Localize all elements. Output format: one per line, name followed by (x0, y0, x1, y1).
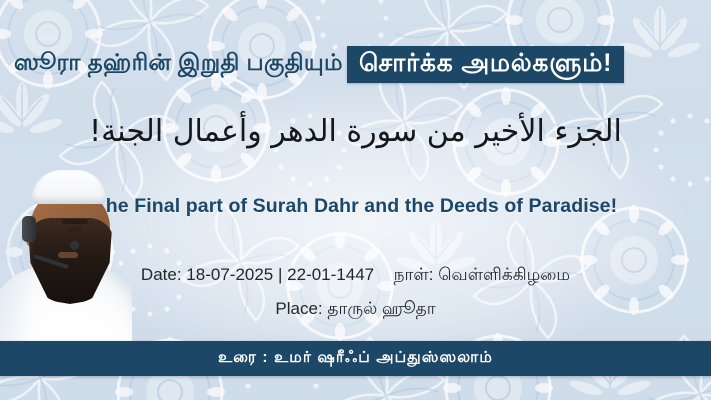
english-title: The Final part of Surah Dahr and the Dee… (0, 195, 711, 218)
date-line: Date: 18-07-2025 | 22-01-1447 நாள்: வெள்… (0, 258, 711, 292)
day-value: வெள்ளிக்கிழமை (438, 265, 570, 284)
place-value: தாருல் ஹூதா (327, 299, 435, 318)
event-details: Date: 18-07-2025 | 22-01-1447 நாள்: வெள்… (0, 258, 711, 326)
photo-eye (68, 227, 82, 232)
date-label: Date: (141, 265, 182, 284)
day-label: நாள்: (394, 265, 434, 284)
speaker-banner: உரை : உமர் ஷரீஃப் அப்துஸ்ஸலாம் (0, 341, 711, 376)
event-poster: ஸூரா தஹ்ரின் இறுதி பகுதியும் சொர்க்க அமல… (0, 0, 711, 400)
date-hijri: 22-01-1447 (287, 265, 374, 284)
headline-row: ஸூரா தஹ்ரின் இறுதி பகுதியும் சொர்க்க அமல… (0, 44, 711, 84)
date-separator: | (278, 265, 282, 284)
speaker-name-text: உரை : உமர் ஷரீஃப் அப்துஸ்ஸலாம் (218, 349, 493, 368)
place-line: Place: தாருல் ஹூதா (0, 292, 711, 326)
date-gregorian: 18-07-2025 (186, 265, 273, 284)
headline-highlight-text: சொர்க்க அமல்களும்! (347, 46, 624, 83)
photo-eyebrow (62, 219, 88, 224)
arabic-title: الجزء الأخير من سورة الدهر وأعمال الجنة! (0, 112, 711, 151)
headset-mic-icon (70, 241, 79, 250)
place-label: Place: (275, 299, 322, 318)
headline-plain-text: ஸூரா தஹ்ரின் இறுதி பகுதியும் (14, 49, 343, 79)
headset-earpiece-icon (22, 216, 36, 242)
photo-ear (26, 228, 38, 248)
